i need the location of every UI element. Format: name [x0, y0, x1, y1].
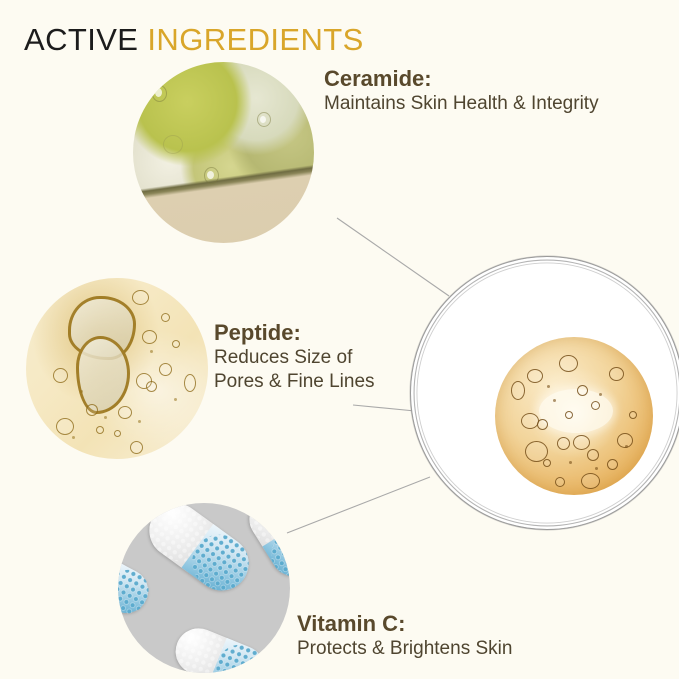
page-title-active: ACTIVE — [24, 22, 138, 57]
infographic-canvas: ACTIVE INGREDIENTS — [0, 0, 679, 679]
ingredient-name-ceramide: Ceramide: — [324, 66, 599, 92]
connector-line-vitaminc — [287, 477, 430, 533]
ingredient-label-vitamin-c: Vitamin C: Protects & Brightens Skin — [297, 611, 512, 661]
ingredient-image-peptide — [26, 278, 208, 459]
ingredient-benefit-ceramide-line-1: Maintains Skin Health & Integrity — [324, 92, 599, 116]
ingredient-benefit-peptide-line-2: Pores & Fine Lines — [214, 370, 375, 394]
connector-line-peptide — [353, 405, 415, 411]
product-dish — [410, 256, 679, 530]
ingredient-benefit-vitamin-c-line-1: Protects & Brightens Skin — [297, 637, 512, 661]
serum-droplet — [495, 337, 653, 495]
ingredient-image-vitamin-c — [118, 503, 290, 673]
ingredient-label-peptide: Peptide: Reduces Size of Pores & Fine Li… — [214, 320, 375, 395]
ingredient-label-ceramide: Ceramide: Maintains Skin Health & Integr… — [324, 66, 599, 116]
ingredient-name-peptide: Peptide: — [214, 320, 375, 346]
page-title: ACTIVE INGREDIENTS — [24, 22, 364, 58]
page-title-ingredients: INGREDIENTS — [147, 22, 363, 57]
ingredient-benefit-peptide-line-1: Reduces Size of — [214, 346, 375, 370]
connector-line-ceramide — [337, 218, 449, 296]
ingredient-name-vitamin-c: Vitamin C: — [297, 611, 512, 637]
ingredient-image-ceramide — [133, 62, 314, 243]
